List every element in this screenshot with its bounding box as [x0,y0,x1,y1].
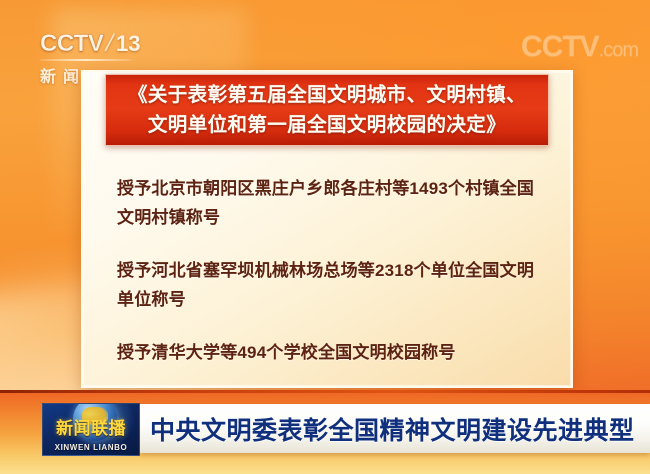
lower-third: 新闻联播 XINWEN LIANBO 中央文明委表彰全国精神文明建设先进典型 [0,390,650,474]
decision-item-campuses: 授予清华大学等494个学校全国文明校园称号 [117,338,541,367]
lower-third-divider [0,390,650,393]
decision-title-banner: 《关于表彰第五届全国文明城市、文明村镇、 文明单位和第一届全国文明校园的决定》 [105,74,549,146]
program-name-cn: 新闻联播 [49,414,133,439]
program-name-pinyin: XINWEN LIANBO [49,443,133,452]
xinwen-lianbo-logo: 新闻联播 XINWEN LIANBO [42,403,140,456]
decision-body: 授予北京市朝阳区黑庄户乡郎各庄村等1493个村镇全国文明村镇称号 授予河北省塞罕… [83,148,571,386]
content-card: 《关于表彰第五届全国文明城市、文明村镇、 文明单位和第一届全国文明校园的决定》 … [81,70,573,388]
headline-text: 中央文明委表彰全国精神文明建设先进典型 [140,411,635,447]
decision-title-line-2: 文明单位和第一届全国文明校园的决定》 [148,110,506,140]
decision-item-units: 授予河北省塞罕坝机械林场总场等2318个单位全国文明单位称号 [117,256,541,314]
decision-item-villages: 授予北京市朝阳区黑庄户乡郎各庄村等1493个村镇全国文明村镇称号 [117,174,541,232]
decision-title-line-1: 《关于表彰第五届全国文明城市、文明村镇、 [128,80,526,110]
headline-plate: 中央文明委表彰全国精神文明建设先进典型 [140,404,650,453]
broadcast-screenshot: CCTV / 13 新闻 CCTV.com 《关于表彰第五届全国文明城市、文明村… [0,0,650,474]
